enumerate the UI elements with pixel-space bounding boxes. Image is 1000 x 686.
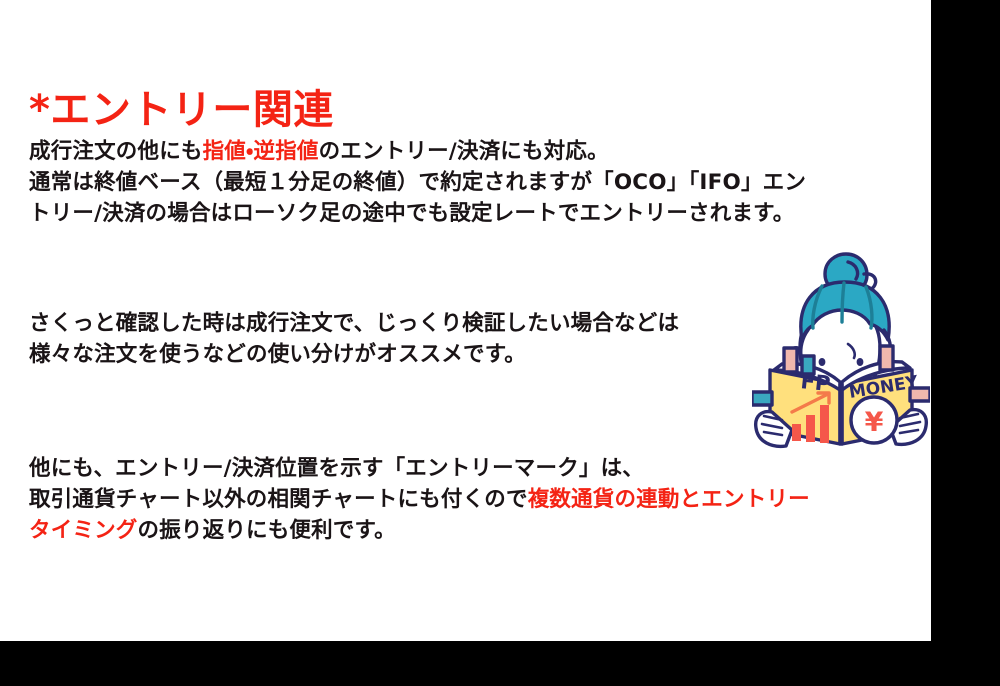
- text-line: 成行注文の他にも指値・逆指値のエントリー/決済にも対応。: [29, 136, 806, 167]
- bookmark-teal-edge-left: [752, 392, 772, 405]
- yen-symbol: ¥: [865, 407, 884, 438]
- text-run-highlight: タイミング: [29, 518, 138, 543]
- text-run: の振り返りにも便利です。: [138, 518, 396, 543]
- text-run: 通常は終値ベース（最短１分足の終値）で約定されますが「OCO」「IFO」エン: [29, 170, 806, 195]
- text-run: さくっと確認した時は成行注文で、じっくり検証したい場合などは: [29, 311, 679, 336]
- text-line: 他にも、エントリー/決済位置を示す「エントリーマーク」は、: [29, 453, 810, 484]
- bookmark-pink-right: [880, 346, 893, 370]
- slide-content: *エントリー関連 成行注文の他にも指値・逆指値のエントリー/決済にも対応。 通常…: [0, 0, 931, 641]
- text-line: タイミングの振り返りにも便利です。: [29, 515, 810, 546]
- hair-line: [842, 283, 844, 322]
- bookmark-pink-left: [784, 348, 797, 372]
- text-line: トリー/決済の場合はローソク足の途中でも設定レートでエントリーされます。: [29, 198, 806, 229]
- text-run: 様々な注文を使うなどの使い分けがオススメです。: [29, 342, 526, 367]
- text-run-highlight: 指値・逆指値: [203, 139, 319, 164]
- text-run: 他にも、エントリー/決済位置を示す「エントリーマーク」は、: [29, 456, 644, 481]
- text-run: トリー/決済の場合はローソク足の途中でも設定レートでエントリーされます。: [29, 201, 794, 226]
- text-run: 取引通貨チャート以外の相関チャートにも付くので: [29, 487, 528, 512]
- text-run-highlight: 複数通貨の連動とエントリー: [528, 487, 810, 512]
- eye-left: [819, 358, 826, 366]
- paragraph-entry-order-types: 成行注文の他にも指値・逆指値のエントリー/決済にも対応。 通常は終値ベース（最短…: [29, 136, 806, 229]
- text-line: 取引通貨チャート以外の相関チャートにも付くので複数通貨の連動とエントリー: [29, 484, 810, 515]
- slide-page: *エントリー関連 成行注文の他にも指値・逆指値のエントリー/決済にも対応。 通常…: [0, 0, 1000, 686]
- eye-right: [857, 358, 864, 366]
- bar-2: [806, 415, 815, 442]
- text-line: 様々な注文を使うなどの使い分けがオススメです。: [29, 339, 679, 370]
- letterbox-band-right: [931, 0, 1000, 641]
- bar-1: [792, 424, 801, 441]
- text-run: 成行注文の他にも: [29, 139, 203, 164]
- book-label-fp: FP: [799, 369, 831, 396]
- text-run: のエントリー/決済にも対応。: [319, 139, 609, 164]
- bar-3: [820, 405, 829, 443]
- person-reading-finance-book-illustration: ¥ FP MONEY: [752, 252, 930, 454]
- paragraph-entry-mark-feature: 他にも、エントリー/決済位置を示す「エントリーマーク」は、 取引通貨チャート以外…: [29, 453, 810, 546]
- paragraph-usage-recommendation: さくっと確認した時は成行注文で、じっくり検証したい場合などは 様々な注文を使うな…: [29, 308, 679, 370]
- text-line: 通常は終値ベース（最短１分足の終値）で約定されますが「OCO」「IFO」エン: [29, 167, 806, 198]
- page-title: *エントリー関連: [29, 87, 334, 134]
- text-line: さくっと確認した時は成行注文で、じっくり検証したい場合などは: [29, 308, 679, 339]
- letterbox-band-bottom: [0, 641, 1000, 686]
